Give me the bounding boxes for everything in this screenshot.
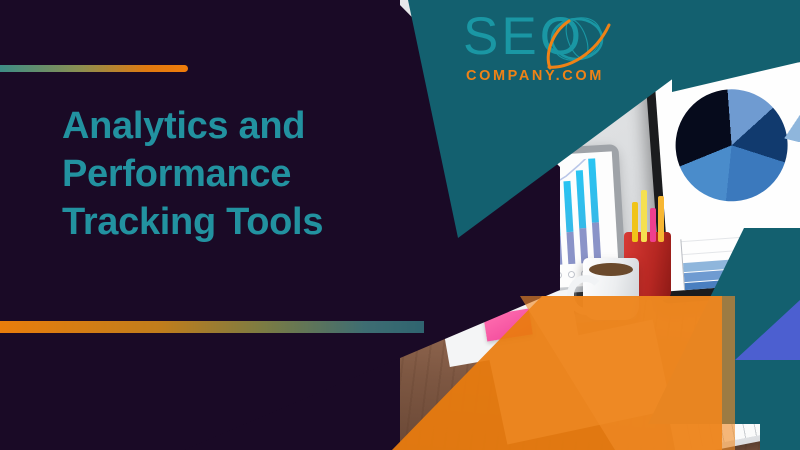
logo-secondary-text: COMPANY.COM <box>466 68 604 84</box>
title-line-1: Analytics and <box>62 103 402 151</box>
accent-bar-bottom <box>0 321 424 333</box>
pie-chart <box>672 84 800 219</box>
page-title: Analytics and Performance Tracking Tools <box>62 103 402 247</box>
accent-bar-top <box>0 65 188 72</box>
laptop-axis-dot <box>568 271 575 278</box>
title-line-2: Performance <box>62 151 402 199</box>
mug-coffee <box>589 263 633 276</box>
brand-logo[interactable]: SEO COMPANY.COM <box>463 8 618 90</box>
seo-banner: Analytics and Performance Tracking Tools… <box>0 0 800 450</box>
title-line-3: Tracking Tools <box>62 199 402 247</box>
globe-swoosh-icon <box>541 11 619 73</box>
